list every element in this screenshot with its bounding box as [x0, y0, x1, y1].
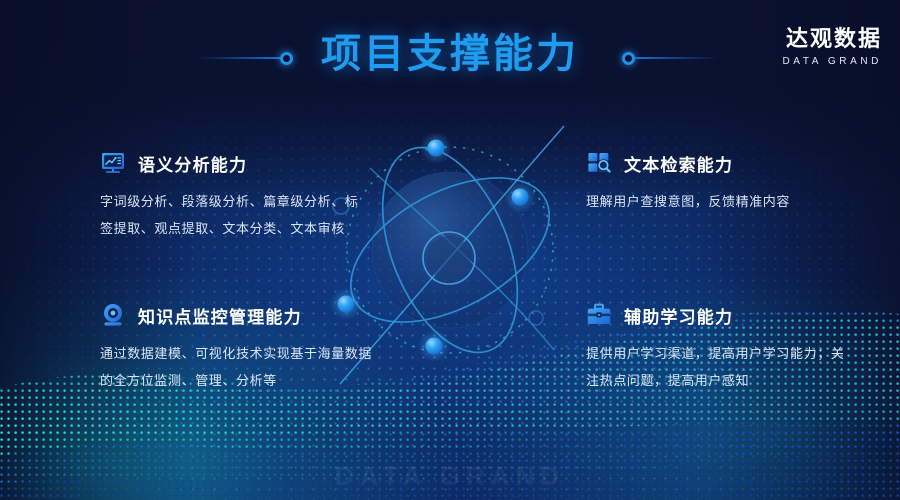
deco-ring-right — [622, 52, 635, 65]
brand-logo: 达观数据 DATA GRAND — [782, 26, 882, 68]
feature-description: 提供用户学习渠道，提高用户学习能力；关注热点问题，提高用户感知 — [586, 340, 846, 394]
feature-block-semantic-analysis: 语义分析能力 字词级分析、段落级分析、篇章级分析、标签提取、观点提取、文本分类、… — [100, 148, 360, 242]
grid-search-icon — [586, 150, 612, 176]
feature-block-assisted-learning: 辅助学习能力 提供用户学习渠道，提高用户学习能力；关注热点问题，提高用户感知 — [586, 300, 846, 394]
deco-ring-left — [280, 52, 293, 65]
feature-heading: 知识点监控管理能力 — [100, 300, 372, 330]
feature-description: 字词级分析、段落级分析、篇章级分析、标签提取、观点提取、文本分类、文本审核 — [100, 188, 360, 242]
deco-bar-left — [196, 57, 280, 59]
logo-chinese-text: 达观数据 — [782, 26, 882, 52]
feature-block-text-retrieval: 文本检索能力 理解用户查搜意图，反馈精准内容 — [586, 148, 846, 215]
line-ring-decoration-left-icon — [196, 50, 293, 66]
feature-title: 辅助学习能力 — [624, 303, 733, 328]
logo-english-text: DATA GRAND — [782, 56, 882, 68]
feature-heading: 语义分析能力 — [100, 148, 360, 178]
orbit-node — [504, 181, 536, 213]
feature-heading: 文本检索能力 — [586, 148, 846, 178]
feature-description: 理解用户查搜意图，反馈精准内容 — [586, 188, 846, 215]
watermark-text: DATA GRAND — [0, 461, 900, 492]
feature-description: 通过数据建模、可视化技术实现基于海量数据的全方位监测、管理、分析等 — [100, 340, 372, 394]
orbit-node — [420, 132, 452, 164]
line-ring-decoration-right-icon — [622, 50, 719, 66]
briefcase-icon — [586, 302, 612, 328]
slide-canvas: 项目支撑能力 达观数据 DATA GRAND — [0, 0, 900, 500]
page-title: 项目支撑能力 — [0, 28, 900, 80]
feature-title: 知识点监控管理能力 — [138, 303, 302, 328]
camera-monitor-icon — [100, 302, 126, 328]
chart-board-icon — [100, 150, 126, 176]
feature-heading: 辅助学习能力 — [586, 300, 846, 330]
feature-block-knowledge-monitoring: 知识点监控管理能力 通过数据建模、可视化技术实现基于海量数据的全方位监测、管理、… — [100, 300, 372, 394]
feature-title: 语义分析能力 — [138, 151, 247, 176]
feature-title: 文本检索能力 — [624, 151, 733, 176]
orbit-node — [418, 330, 450, 362]
deco-bar-right — [635, 57, 719, 59]
